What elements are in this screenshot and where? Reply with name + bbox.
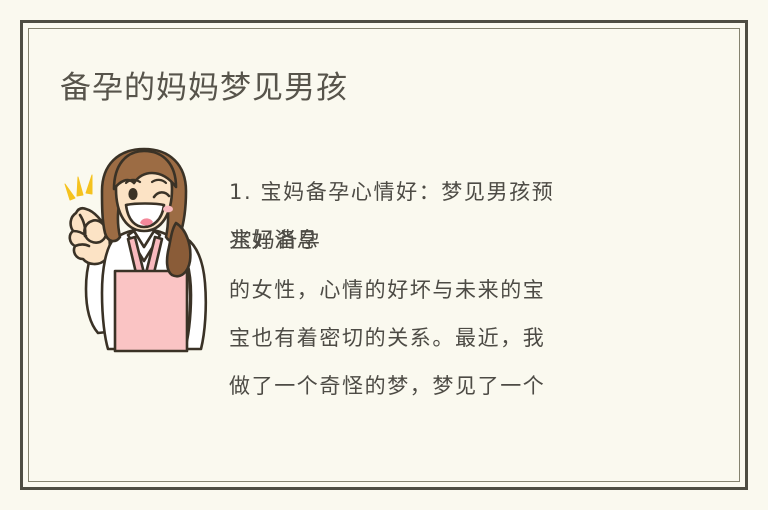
- body-line-text-overlay-b: 宝妈备孕: [231, 220, 321, 260]
- body-line: 宝也有着密切的关系。最近，我: [229, 318, 659, 366]
- body-line-text: 的女性，心情的好坏与未来的宝: [229, 278, 545, 302]
- body-line: 做了一个奇怪的梦，梦见了一个: [229, 366, 659, 414]
- body-line-overlapping: 兆好消息 宝妈备孕: [229, 220, 659, 270]
- page-title: 备孕的妈妈梦见男孩: [60, 62, 348, 107]
- body-line: 的女性，心情的好坏与未来的宝: [229, 270, 659, 318]
- illustration-winking-woman: [58, 143, 210, 355]
- article-body: 1. 宝妈备孕心情好：梦见男孩预 兆好消息 宝妈备孕 的女性，心情的好坏与未来的…: [229, 172, 659, 414]
- sparkle-icon: [65, 175, 92, 200]
- body-line-text: 宝也有着密切的关系。最近，我: [229, 326, 545, 350]
- article-card: 备孕的妈妈梦见男孩: [0, 0, 768, 510]
- body-line: 1. 宝妈备孕心情好：梦见男孩预: [229, 172, 659, 220]
- body-line-text: 1. 宝妈备孕心情好：梦见男孩预: [229, 180, 554, 204]
- body-line-text: 做了一个奇怪的梦，梦见了一个: [229, 374, 545, 398]
